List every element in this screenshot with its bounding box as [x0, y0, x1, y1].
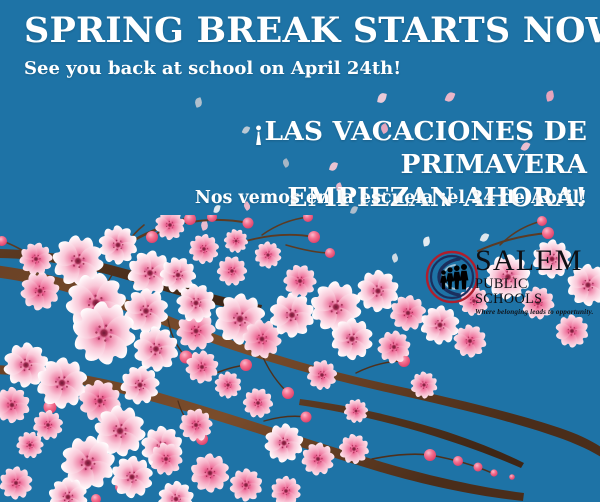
falling-petal [194, 97, 203, 108]
falling-petal [377, 92, 387, 103]
cherry-blossom [0, 461, 38, 502]
logo-tagline: Where belonging leads to opportunity. [475, 308, 599, 316]
cherry-blossom [224, 465, 267, 502]
cherry-blossom [184, 449, 235, 499]
falling-petal [445, 91, 456, 103]
spanish-subheadline: Nos vemos en la escuela ¡el 24 de Abril! [27, 188, 587, 208]
english-subheadline: See you back at school on April 24th! [24, 58, 401, 79]
logo-name: SALEM [475, 246, 599, 276]
cherry-blossom [266, 472, 306, 502]
spring-break-poster: SPRING BREAK STARTS NOW! See you back at… [0, 0, 600, 502]
salem-public-schools-logo: SALEM PUBLIC SCHOOLS Where belonging lea… [425, 248, 597, 308]
cherry-blossom [250, 239, 285, 273]
cherry-blossom [550, 310, 595, 354]
logo-wordmark: SALEM PUBLIC SCHOOLS Where belonging lea… [475, 246, 599, 316]
salem-public-schools-circle-emblem-icon [425, 250, 479, 304]
english-headline: SPRING BREAK STARTS NOW! [24, 13, 600, 50]
falling-petal [545, 90, 555, 102]
cherry-blossom [219, 224, 254, 258]
cherry-blossom [0, 382, 36, 429]
spanish-headline-line1: ¡LAS VACACIONES DE PRIMAVERA [253, 116, 587, 180]
logo-subname: PUBLIC SCHOOLS [475, 277, 599, 307]
